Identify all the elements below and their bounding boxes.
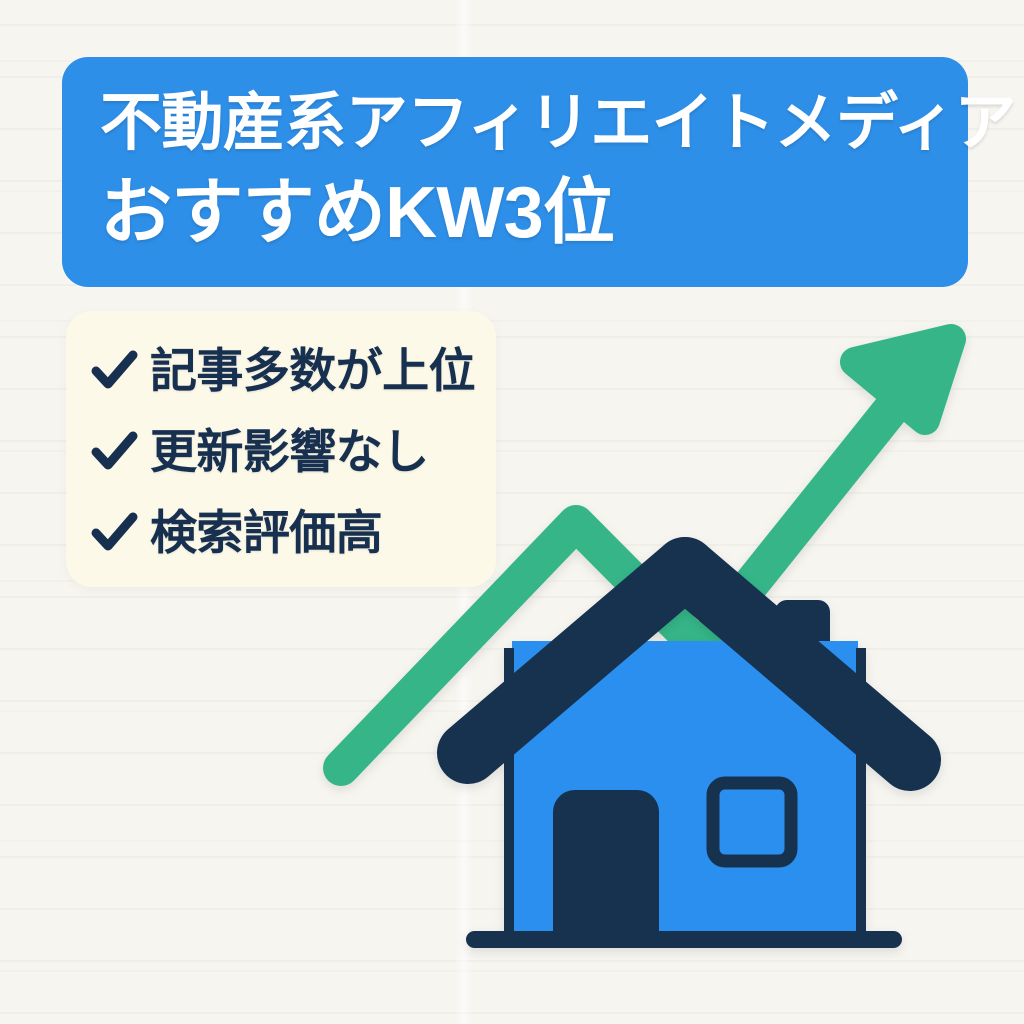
title-card: 不動産系アフィリエイトメディア おすすめKW3位 (62, 57, 968, 287)
title-line-primary: 不動産系アフィリエイトメディア (100, 83, 921, 163)
house-icon (466, 568, 910, 948)
house-roof (685, 568, 910, 760)
checklist-card: 記事多数が上位 更新影響なし 検索評価高 (66, 311, 496, 587)
house-baseline (466, 931, 902, 948)
checklist-item-label: 更新影響なし (150, 428, 429, 475)
check-icon (88, 425, 140, 477)
checklist-item-label: 検索評価高 (150, 509, 382, 556)
checklist-item-label: 記事多数が上位 (150, 347, 475, 394)
check-icon (88, 344, 140, 396)
house-roof-left (468, 568, 685, 753)
house-right-wall (856, 648, 866, 940)
house-chimney (775, 600, 830, 712)
house-window (713, 783, 791, 861)
house-door (553, 790, 659, 940)
check-icon (88, 506, 140, 558)
house-body (512, 641, 858, 938)
title-line-secondary: おすすめKW3位 (100, 165, 934, 261)
infographic-canvas: 不動産系アフィリエイトメディア おすすめKW3位 記事多数が上位 更新影響なし … (0, 0, 1024, 1024)
checklist-item-2: 更新影響なし (88, 414, 476, 488)
checklist-item-1: 記事多数が上位 (88, 333, 476, 407)
checklist-item-3: 検索評価高 (88, 495, 476, 569)
house-left-wall (504, 648, 514, 940)
